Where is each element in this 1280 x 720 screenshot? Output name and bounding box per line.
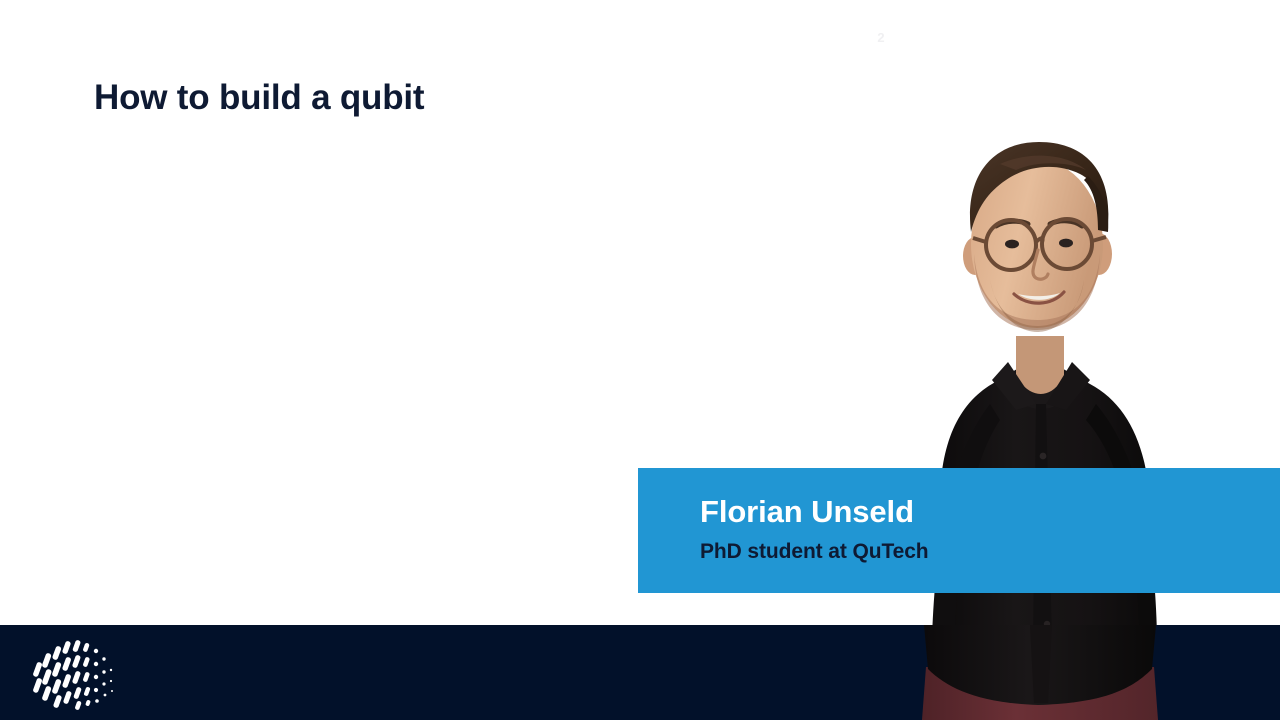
video-slide: How to build a qubit 2 <box>0 0 1280 720</box>
shirt-button <box>1040 453 1047 460</box>
presenter-name: Florian Unseld <box>700 494 914 530</box>
slide-title: How to build a qubit <box>94 78 424 118</box>
qutech-sphere-logo <box>33 636 119 712</box>
lower-third-name-banner: Florian Unseld PhD student at QuTech <box>638 468 1280 593</box>
presenter-eye <box>1059 239 1073 248</box>
presenter-role: PhD student at QuTech <box>700 540 929 564</box>
watermark-artifact: 2 <box>872 28 890 48</box>
presenter-eye <box>1005 240 1019 249</box>
presenter-lower-body <box>840 625 1240 720</box>
